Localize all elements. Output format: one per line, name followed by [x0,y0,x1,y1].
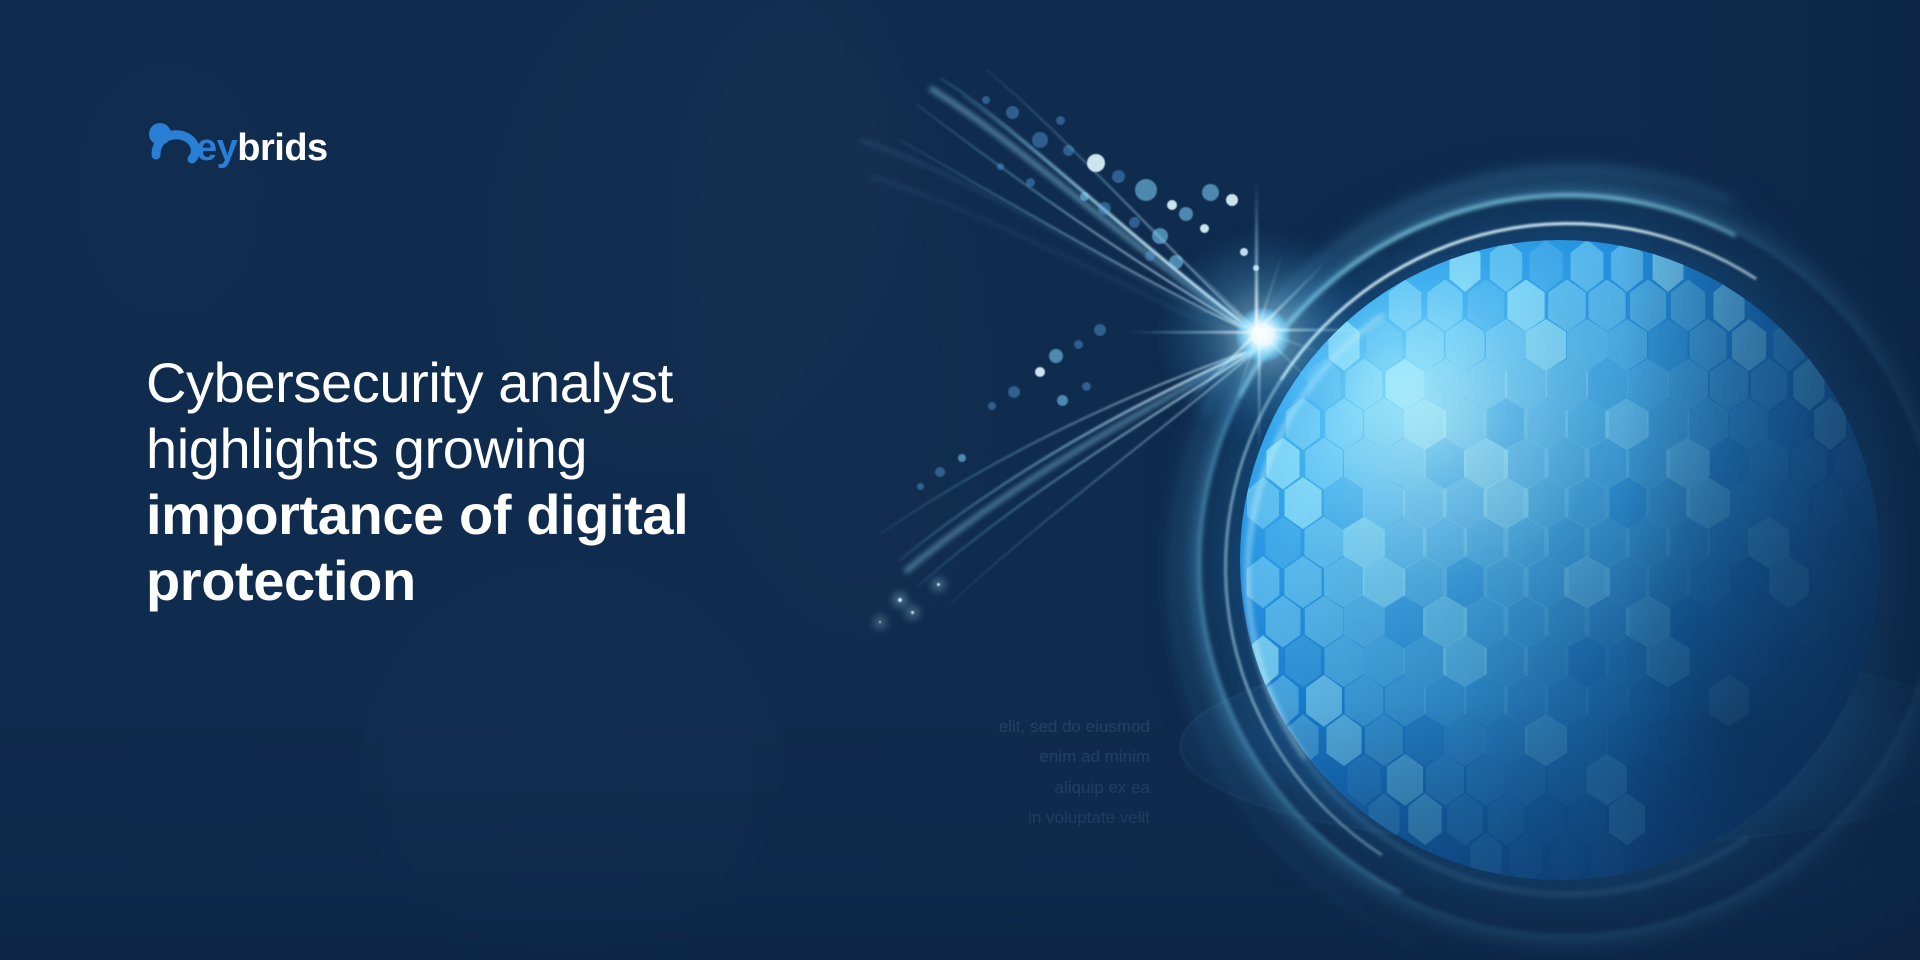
hexagon-cell [1247,635,1278,687]
network-node [1082,382,1091,391]
sparkle [879,621,881,623]
hexagon-cell [1749,438,1789,490]
hexagon-cell [1567,319,1608,371]
background-text-line-2: enim ad minim [820,742,1150,772]
hexagon-cell [1625,438,1669,490]
hexagon-cell [1584,517,1630,569]
network-node [1080,192,1089,201]
background-text-line-1: elit, sed do eiusmod [820,712,1150,742]
network-node [1179,207,1193,221]
burst-core [1236,308,1290,362]
hexagon-pattern [1240,240,1880,880]
hexagon-cell [1345,675,1384,727]
hexagon-cell [1346,359,1383,411]
network-node [1074,340,1083,349]
hexagon-cell [1564,556,1610,608]
hexagon-cell [1483,477,1528,529]
hexagon-cell [1707,596,1749,648]
hexagon-cell [1326,714,1361,766]
network-node [1112,170,1125,183]
hexagon-cell [1383,596,1426,648]
bottom-edge-vignette [0,700,1920,960]
hexagon-cell [1708,438,1750,490]
hexagon-cell [1307,359,1340,411]
hexagon-cell [1388,280,1421,332]
hexagon-cell [1791,596,1829,648]
burst-ray [1255,182,1258,332]
hexagon-cell [1686,556,1730,608]
burst-ray [1258,331,1260,451]
hexagon-cell [1550,833,1583,880]
hexagon-cell [1774,319,1805,371]
hexagon-cell [1465,359,1507,411]
hexagon-cell [1566,714,1608,766]
hexagon-cell [1450,240,1481,292]
background-texture-blob [60,40,280,340]
hexagon-cell [1364,398,1404,450]
hexagon-cell [1568,793,1605,845]
hexagon-cell [1751,359,1787,411]
hexagon-cell [1408,793,1442,845]
sparkle [937,583,940,586]
hexagon-cell [1365,714,1403,766]
hexagon-cell [1324,635,1363,687]
brand-logo[interactable]: eybrids [146,118,328,178]
hexagon-cell [1564,635,1609,687]
hexagon-cell [1790,517,1828,569]
hexagon-cell [1687,477,1730,529]
network-node [1152,228,1168,244]
hexagon-cell [1645,556,1690,608]
hexagon-cell [1524,477,1570,529]
hexagon-cell [1812,477,1848,529]
network-node [988,402,996,410]
hexagon-cell [1690,319,1727,371]
burst-ray [1234,331,1259,406]
network-node [1098,202,1111,215]
hexagon-cell [1443,635,1487,687]
hexagon-cell [1629,280,1665,332]
hexagon-cell [1443,556,1488,608]
hexagon-cell [1386,754,1423,806]
hexagon-cell [1485,714,1527,766]
hexagon-cell [1609,793,1646,845]
hexagon-cell [1791,438,1828,490]
hexagon-cell [1344,596,1385,648]
hexagon-cell [1728,635,1769,687]
network-node [1063,145,1074,156]
network-node [935,467,945,477]
hexagon-cell [1467,280,1504,332]
hexagon-cell [1505,359,1547,411]
burst-ray [1190,264,1258,332]
hexagon-cell [1548,280,1586,332]
network-node [1057,395,1068,406]
hexagon-cell [1247,477,1279,529]
hexagon-cell [1771,398,1808,450]
hexagon-cell [1285,556,1323,608]
hexagon-cell [1626,675,1669,727]
burst-ray [1128,331,1258,333]
hexagon-cell [1343,517,1385,569]
hexagon-cell [1586,359,1628,411]
sphere-body [1240,240,1880,880]
network-node [1056,116,1065,125]
sphere-rim-highlight [1160,158,1920,960]
burst-halo [1163,235,1363,435]
hexagon-cell [1546,754,1586,806]
hexagon-cell [1444,398,1487,450]
hexagon-cell [1403,477,1447,529]
hexagon-cell [1585,438,1630,490]
network-node [1035,367,1045,377]
hexagon-cell [1833,517,1867,569]
brand-name-prefix: ey [196,127,237,169]
hexagon-cell [1689,714,1728,766]
burst-ray [1188,305,1258,331]
network-node [1167,200,1177,210]
network-node [1032,132,1048,148]
hexagon-cell [1671,280,1706,332]
background-text-line-4: in voluptate velit [820,803,1150,833]
sparkle [898,598,902,602]
hexagon-cell [1794,359,1826,411]
burst-ray [1184,331,1259,406]
hexagon-cell [1304,596,1343,648]
network-node [1253,265,1259,271]
network-node [917,483,924,490]
hexagon-cell [1504,675,1548,727]
network-node [982,96,990,104]
network-node [1026,178,1035,187]
hexagonal-network-sphere [1150,160,1920,860]
hexagon-cell [1507,280,1545,332]
hexagon-cell [1383,517,1426,569]
hexagon-cell [1403,635,1446,687]
hexagon-cell [1814,398,1846,450]
hexagon-cell [1305,438,1343,490]
sphere-glow-arc [1048,46,1920,960]
hexagon-cell [1606,398,1650,450]
hexagon-cell [1526,319,1567,371]
hexagon-cell [1647,714,1688,766]
network-node [1008,386,1020,398]
hexagon-cell [1445,714,1486,766]
network-node [1200,224,1209,233]
hexagon-cell [1503,517,1549,569]
hexagon-cell [1731,319,1766,371]
hexagon-cell [1470,833,1501,880]
hexagon-cell [1523,556,1569,608]
burst-ray [1257,262,1325,330]
hexagon-cell [1364,635,1405,687]
hexagon-cell [1606,714,1648,766]
hexagon-cell [1707,517,1750,569]
hexagon-cell [1584,596,1629,648]
hexagon-cell [1564,477,1610,529]
hexagon-cell [1628,754,1667,806]
hexagon-cell [1384,438,1426,490]
sparkle [911,611,914,614]
hexagon-cell [1443,477,1488,529]
hexagon-cell [1709,359,1748,411]
hexagon-cell [1585,675,1629,727]
hexagon-cell [1484,635,1529,687]
hexagon-cell [1524,398,1568,450]
hexagon-cell [1427,280,1462,332]
hexagon-cell [1855,477,1880,529]
hexagon-cell [1503,596,1548,648]
hexagon-cell [1545,675,1589,727]
hexagon-cell [1487,793,1524,845]
network-node [1087,154,1105,172]
hexagon-cell [1464,675,1507,727]
headline-line-2: highlights growing [146,416,886,482]
network-node [1226,194,1238,206]
hexagon-cell [1544,438,1589,490]
network-node [997,163,1004,170]
hexagon-cell [1484,398,1528,450]
hexagon-cell [1363,556,1406,608]
hexagon-cell [1627,359,1669,411]
hexagon-cell [1426,754,1464,806]
network-node [1240,248,1248,256]
hexagon-cell [1565,398,1609,450]
hexagon-cell [1687,635,1729,687]
hexagon-cell [1525,714,1567,766]
hexagon-cell [1605,556,1650,608]
hexagon-cell [1403,556,1447,608]
hexagon-cell [1607,319,1647,371]
hexagon-cell [1625,517,1670,569]
hexagon-cell [1405,714,1445,766]
hexagon-cell [1588,280,1625,332]
sphere-base-ellipse-inner [1240,672,1920,822]
network-node [1129,217,1140,228]
background-texture-blob [360,560,780,960]
hexagon-cell [1285,477,1322,529]
hexagon-cell [1446,319,1485,371]
sphere-left-rim-highlight [1195,205,1920,946]
hexagon-cell [1306,675,1342,727]
hexagon-cell [1708,675,1748,727]
hexagon-cell [1713,280,1745,332]
hexagon-cell [1324,556,1365,608]
hexagon-cell [1344,438,1384,490]
burst-ray [1258,330,1324,355]
sphere-glow-arc [1102,98,1920,960]
hexagon-cell [1668,359,1709,411]
hexagon-cell [1423,438,1467,490]
hexagon-cell [1667,675,1709,727]
hexagon-cell [1688,398,1729,450]
hexagon-cell [1325,398,1363,450]
hexagon-cell [1369,793,1400,845]
hexagon-cell [1424,675,1466,727]
network-node [1049,349,1063,363]
hexagon-cell [1463,438,1507,490]
brand-name-suffix: brids [237,127,327,169]
hexagon-cell [1266,438,1300,490]
hexagon-cell [1666,596,1710,648]
brand-logo-text: eybrids [196,129,328,167]
hexagon-cell [1506,754,1546,806]
burst-ray [1258,329,1378,331]
background-decorative-text: elit, sed do eiusmod enim ad minim aliqu… [820,712,1150,833]
hexagon-cell [1510,833,1542,880]
network-node [958,454,966,462]
headline-line-4: protection [146,548,886,614]
hexagon-cell [1611,240,1643,292]
hexagon-cell [1504,438,1549,490]
hexagon-cell [1324,477,1364,529]
hexagon-cell [1384,675,1425,727]
hexagon-cell [1530,240,1563,292]
hexagon-cell [1646,398,1689,450]
hexagon-cell [1544,517,1590,569]
headline-line-3: importance of digital [146,482,886,548]
hexagon-cell [1587,754,1627,806]
hexagon-cell [1749,517,1790,569]
hexagon-cell [1385,359,1424,411]
eybrids-logo-mark-icon [146,121,202,175]
hexagon-cell [1625,596,1670,648]
hexagon-cell [1648,319,1687,371]
hexagon-cell [1749,596,1789,648]
hexagon-cell [1570,240,1603,292]
hexagon-cell [1406,319,1444,371]
network-node [1135,179,1157,201]
hexagon-cell [1646,635,1690,687]
hexagon-cell [1483,556,1529,608]
hero-banner: eybrids Cybersecurity analyst highlights… [0,0,1920,960]
hexagon-cell [1770,477,1809,529]
hexagon-cell [1423,517,1468,569]
page-title: Cybersecurity analyst highlights growing… [146,350,886,614]
hexagon-cell [1466,754,1506,806]
hexagon-cell [1404,398,1446,450]
hexagon-cell [1652,240,1683,292]
network-node [1094,324,1106,336]
hexagon-cell [1286,398,1320,450]
hexagon-cell [1486,319,1526,371]
background-text-line-3: aliquip ex ea [820,773,1150,803]
burst-ray [1257,254,1283,330]
hexagon-cell [1666,438,1709,490]
hexagon-cell [1605,477,1650,529]
hexagon-cell [1524,635,1569,687]
hexagon-cell [1544,596,1590,648]
sphere-base-ellipse [1180,646,1920,846]
burst-ray [1258,330,1319,391]
network-node [1202,184,1219,201]
hexagon-cell [1729,398,1769,450]
hexagon-cell [1304,517,1343,569]
hexagon-cell [1591,833,1623,880]
network-node [1169,255,1183,269]
hexagon-cell [1728,477,1770,529]
hexagon-cell [1812,556,1848,608]
hexagon-cell [1265,517,1301,569]
hexagon-cell [1268,675,1299,727]
hexagon-cell [1423,596,1467,648]
hexagon-cell [1728,556,1770,608]
hexagon-cell [1490,240,1523,292]
hexagon-cell [1363,477,1405,529]
hexagon-cell [1528,793,1565,845]
hexagon-cell [1834,438,1865,490]
hexagon-cell [1247,556,1280,608]
hexagon-cell [1347,754,1380,806]
hexagon-cell [1463,517,1508,569]
hexagon-cell [1646,477,1690,529]
hexagon-cell [1328,319,1360,371]
sphere-shading [1240,240,1880,880]
hexagon-cell [1545,359,1588,411]
right-edge-vignette [1620,0,1920,960]
hexagon-cell [1769,556,1809,608]
hexagon-cell [1425,359,1466,411]
network-node [1145,251,1155,261]
network-node [1006,106,1019,119]
hexagon-cell [1288,714,1319,766]
light-burst [1258,330,1268,340]
hexagon-cell [1666,517,1710,569]
headline-line-1: Cybersecurity analyst [146,350,886,416]
hexagon-cell [1266,596,1301,648]
hexagon-cell [1367,319,1403,371]
hexagon-cell [1605,635,1649,687]
hexagon-cell [1286,635,1322,687]
hexagon-cell [1448,793,1484,845]
hexagon-cell [1463,596,1508,648]
